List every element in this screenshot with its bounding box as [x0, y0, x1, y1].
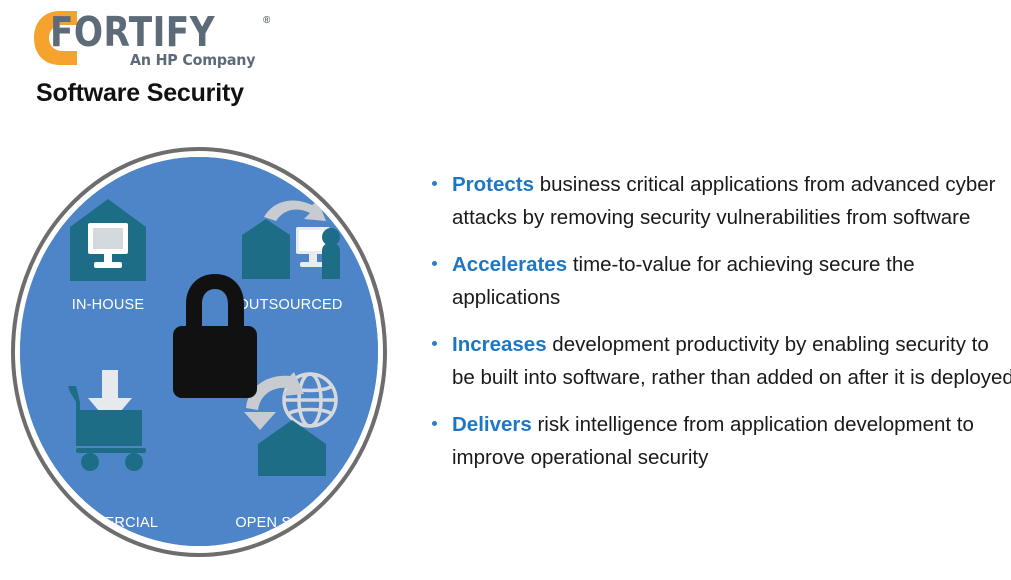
- list-item: Increases development productivity by en…: [424, 328, 1011, 394]
- quadrant-label-open-source: OPEN SOURCE: [202, 515, 378, 531]
- bullet-dot-icon: [432, 261, 437, 266]
- list-item: Protects business critical applications …: [424, 168, 1011, 234]
- list-item: Accelerates time-to-value for achieving …: [424, 248, 1011, 314]
- fortify-logo: FORTIFY ® An HP Company: [32, 6, 282, 72]
- page-title: Software Security: [36, 79, 244, 108]
- bullet-dot-icon: [432, 421, 437, 426]
- bullet-lead: Increases: [452, 333, 547, 356]
- bullet-lead: Delivers: [452, 413, 532, 436]
- security-quadrant-diagram: IN-HOUSE OUTSOURCED: [8, 142, 390, 562]
- padlock-icon: [169, 270, 261, 400]
- fortify-trademark: ®: [263, 15, 270, 26]
- bullet-text: business critical applications from adva…: [452, 173, 996, 229]
- fortify-tagline: An HP Company: [130, 51, 255, 69]
- quadrant-label-commercial: COMMERCIAL: [20, 515, 196, 531]
- list-item: Delivers risk intelligence from applicat…: [424, 408, 1011, 474]
- fortify-wordmark: FORTIFY: [50, 12, 215, 53]
- benefits-list: Protects business critical applications …: [424, 168, 1011, 488]
- bullet-lead: Protects: [452, 173, 534, 196]
- bullet-dot-icon: [432, 341, 437, 346]
- bullet-dot-icon: [432, 181, 437, 186]
- bullet-lead: Accelerates: [452, 253, 567, 276]
